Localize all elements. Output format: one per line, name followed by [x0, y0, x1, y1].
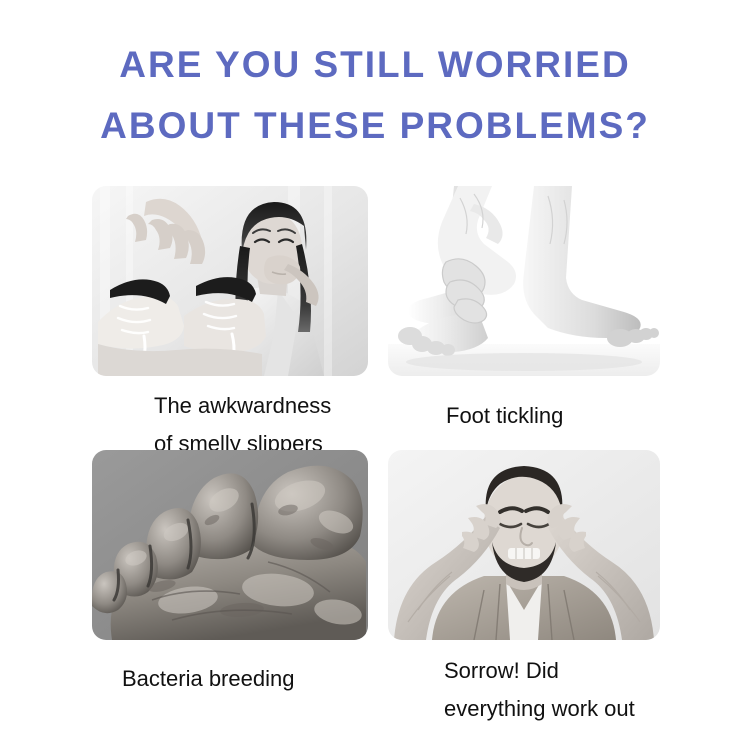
headline-line-2: ABOUT THESE PROBLEMS?: [0, 95, 750, 156]
problem-card-smelly-slippers: The awkwardness of smelly slippers: [92, 186, 368, 463]
problem-card-foot-tickling: Foot tickling: [388, 186, 660, 435]
smelly-slippers-illustration: [92, 186, 368, 376]
problem-grid: The awkwardness of smelly slippers: [0, 182, 750, 742]
problem-caption-bacteria-breeding: Bacteria breeding: [122, 660, 368, 698]
problem-caption-foot-tickling: Foot tickling: [446, 397, 660, 435]
foot-tickling-illustration: [388, 186, 660, 376]
problem-caption-sorrow: Sorrow! Did everything work out: [444, 652, 660, 728]
headline-line-1: ARE YOU STILL WORRIED: [0, 34, 750, 95]
page-title: ARE YOU STILL WORRIED ABOUT THESE PROBLE…: [0, 34, 750, 156]
problem-card-bacteria-breeding: Bacteria breeding: [92, 450, 368, 698]
problem-image-sorrow: [388, 450, 660, 640]
problem-image-foot-tickling: [388, 186, 660, 376]
sorrow-illustration: [388, 450, 660, 640]
problem-image-bacteria-breeding: [92, 450, 368, 640]
promo-page: ARE YOU STILL WORRIED ABOUT THESE PROBLE…: [0, 0, 750, 752]
problem-card-sorrow: Sorrow! Did everything work out: [388, 450, 660, 728]
problem-image-smelly-slippers: [92, 186, 368, 376]
bacteria-breeding-illustration: [92, 450, 368, 640]
